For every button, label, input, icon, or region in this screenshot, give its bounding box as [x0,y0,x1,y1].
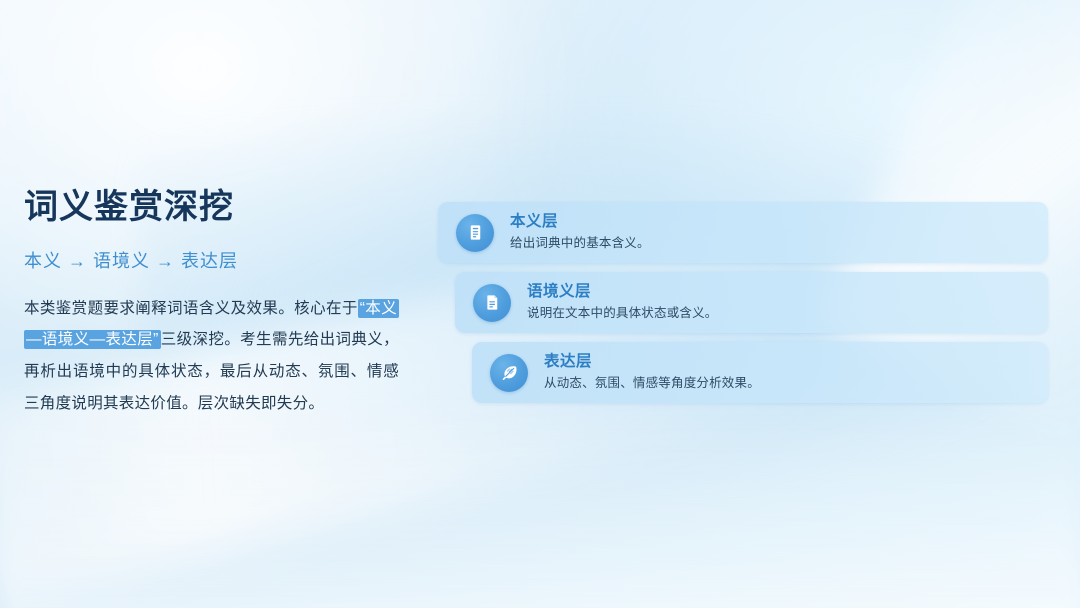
layer-card-title: 本义层 [510,212,650,233]
layer-card-text: 表达层 从动态、氛围、情感等角度分析效果。 [544,352,760,393]
layer-card-description: 给出词典中的基本含义。 [510,234,650,253]
slide-canvas: 词义鉴赏深挖 本义 → 语境义 → 表达层 本类鉴赏题要求阐释词语含义及效果。核… [0,0,1080,608]
document-lines-icon [456,214,494,252]
layer-card-benyi[interactable]: 本义层 给出词典中的基本含义。 [438,202,1048,263]
body-paragraph-part-1: 本类鉴赏题要求阐释词语含义及效果。核心在于 [24,300,358,317]
background-haze-bottom [0,388,1080,608]
layer-card-description: 从动态、氛围、情感等角度分析效果。 [544,374,760,393]
feather-quill-icon [490,354,528,392]
layer-card-description: 说明在文本中的具体状态或含义。 [527,304,718,323]
body-paragraph: 本类鉴赏题要求阐释词语含义及效果。核心在于“本义—语境义—表达层”三级深挖。考生… [24,293,399,420]
layer-card-title: 语境义层 [527,282,718,303]
layer-card-list: 本义层 给出词典中的基本含义。 语境义层 说明在文本中的具体状态或含义。 [438,202,1048,412]
document-folded-icon [473,284,511,322]
layer-card-text: 本义层 给出词典中的基本含义。 [510,212,650,253]
layer-card-title: 表达层 [544,352,760,373]
layer-card-yujingyi[interactable]: 语境义层 说明在文本中的具体状态或含义。 [455,272,1048,333]
layer-card-text: 语境义层 说明在文本中的具体状态或含义。 [527,282,718,323]
page-subtitle: 本义 → 语境义 → 表达层 [24,247,404,273]
layer-card-biaodaceng[interactable]: 表达层 从动态、氛围、情感等角度分析效果。 [472,342,1048,403]
page-title: 词义鉴赏深挖 [24,186,404,229]
left-content-column: 词义鉴赏深挖 本义 → 语境义 → 表达层 本类鉴赏题要求阐释词语含义及效果。核… [24,186,404,420]
